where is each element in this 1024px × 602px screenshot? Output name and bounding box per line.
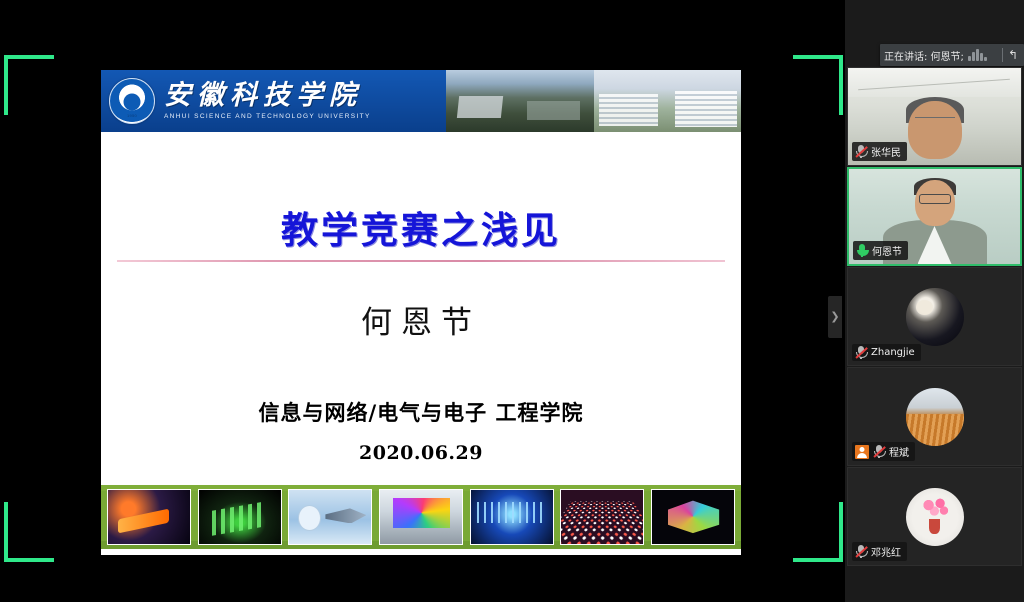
share-bracket-top-left xyxy=(4,55,54,115)
green-nanostructure-thumbnail xyxy=(198,489,282,545)
university-name-group: 安徽科技学院 ANHUI SCIENCE AND TECHNOLOGY UNIV… xyxy=(164,82,371,120)
conference-window: 1950 安徽科技学院 ANHUI SCIENCE AND TECHNOLOGY… xyxy=(0,0,1024,602)
participant-tile-zhanghuamin[interactable]: 张华民 xyxy=(847,67,1022,166)
participant-tile-heenjie[interactable]: 何恩节 xyxy=(847,167,1022,266)
participant-name: Zhangjie xyxy=(871,347,915,358)
participant-name-badge: 何恩节 xyxy=(853,241,908,260)
speaking-status-toolbar: 正在讲话: 何恩节; ↰ xyxy=(880,44,1024,66)
campus-buildings-photo xyxy=(594,70,742,132)
mic-on-icon[interactable] xyxy=(856,244,868,257)
screen-share-area: 1950 安徽科技学院 ANHUI SCIENCE AND TECHNOLOGY… xyxy=(0,0,845,602)
video-background xyxy=(848,68,1021,97)
speaking-status-label: 正在讲话: 何恩节; xyxy=(884,48,964,63)
title-divider-rule xyxy=(117,260,725,262)
participant-name: 程斌 xyxy=(889,444,909,459)
audio-wave-icon xyxy=(968,49,987,61)
laser-device-thumbnail xyxy=(107,489,191,545)
slide-header-banner: 1950 安徽科技学院 ANHUI SCIENCE AND TECHNOLOGY… xyxy=(101,70,741,132)
video-person-face xyxy=(908,101,962,159)
participant-name-badge: Zhangjie xyxy=(852,344,921,361)
university-name-cn: 安徽科技学院 xyxy=(164,82,371,110)
mic-muted-icon[interactable] xyxy=(855,145,867,158)
blue-optics-thumbnail xyxy=(470,489,554,545)
campus-aerial-photo xyxy=(446,70,594,132)
slide-title: 教学竞赛之浅见 xyxy=(101,200,741,254)
mic-muted-icon[interactable] xyxy=(855,346,867,359)
video-person-glasses xyxy=(915,117,955,128)
university-name-en: ANHUI SCIENCE AND TECHNOLOGY UNIVERSITY xyxy=(164,113,371,120)
share-bracket-bottom-right xyxy=(793,502,843,562)
slide-footer-strip xyxy=(101,479,741,555)
collapse-panel-chevron-right-icon[interactable]: ❯ xyxy=(828,296,842,338)
slide-author: 何恩节 xyxy=(101,297,741,342)
participant-name-badge: 张华民 xyxy=(852,142,907,161)
host-badge-icon xyxy=(855,445,869,459)
participant-tile-dengzhaohong[interactable]: 邓兆红 xyxy=(847,467,1022,566)
slide-department: 信息与网络/电气与电子 工程学院 xyxy=(101,397,741,427)
toolbar-separator xyxy=(1002,48,1003,62)
slide-date: 2020.06.29 xyxy=(101,442,741,464)
participant-name-badge: 邓兆红 xyxy=(852,542,907,561)
slide-body: 教学竞赛之浅见 何恩节 信息与网络/电气与电子 工程学院 2020.06.29 xyxy=(101,132,741,479)
university-crest-icon: 1950 xyxy=(109,78,155,124)
presentation-slide: 1950 安徽科技学院 ANHUI SCIENCE AND TECHNOLOGY… xyxy=(101,70,741,555)
graphene-lattice-thumbnail xyxy=(560,489,644,545)
participant-name-badge: 程斌 xyxy=(852,442,915,461)
participant-name: 何恩节 xyxy=(872,243,902,258)
back-arrow-icon[interactable]: ↰ xyxy=(1008,49,1020,61)
share-bracket-top-right xyxy=(793,55,843,115)
photonic-crystal-thumbnail xyxy=(651,489,735,545)
avatar xyxy=(906,288,964,346)
avatar xyxy=(906,488,964,546)
participant-tile-zhangjie[interactable]: Zhangjie xyxy=(847,267,1022,366)
led-display-thumbnail xyxy=(379,489,463,545)
participant-rail: 正在讲话: 何恩节; ↰ 张华民 xyxy=(845,0,1024,602)
university-identity-block: 1950 安徽科技学院 ANHUI SCIENCE AND TECHNOLOGY… xyxy=(101,70,446,132)
crest-year: 1950 xyxy=(110,113,154,118)
stealth-aircraft-thumbnail xyxy=(288,489,372,545)
participant-name: 张华民 xyxy=(871,144,901,159)
avatar xyxy=(906,388,964,446)
participant-tile-host[interactable]: 程斌 xyxy=(847,367,1022,466)
mic-muted-icon[interactable] xyxy=(873,445,885,458)
share-bracket-bottom-left xyxy=(4,502,54,562)
mic-muted-icon[interactable] xyxy=(855,545,867,558)
participant-name: 邓兆红 xyxy=(871,544,901,559)
video-person-glasses xyxy=(919,194,951,204)
